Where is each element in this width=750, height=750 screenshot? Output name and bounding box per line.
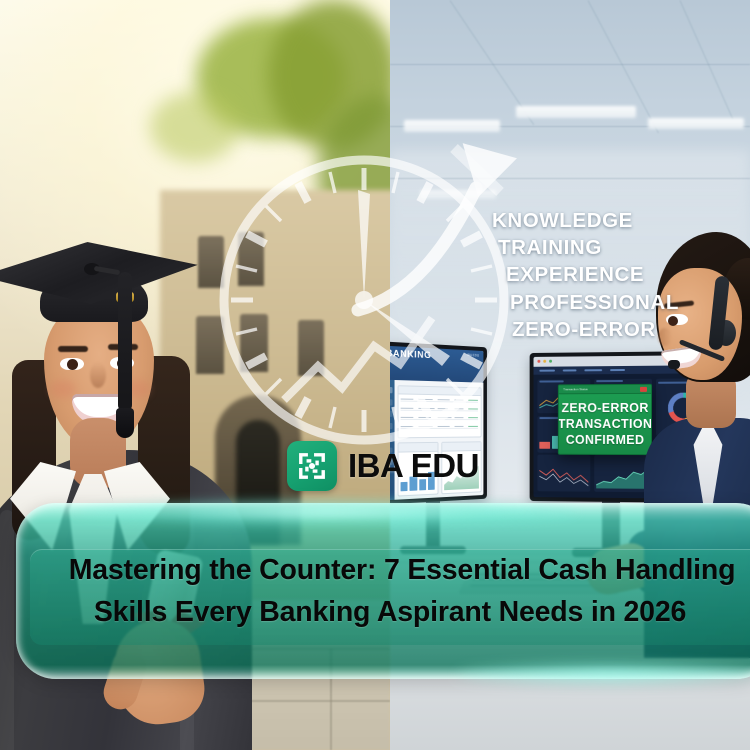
kpi-item-zero-error: ZERO-ERROR bbox=[492, 317, 712, 343]
pupil bbox=[67, 359, 78, 370]
table-row[interactable] bbox=[401, 406, 478, 411]
table-row[interactable] bbox=[401, 425, 478, 430]
table-row[interactable] bbox=[401, 397, 478, 403]
eyebrow-left bbox=[58, 346, 88, 352]
ceiling-light-panel bbox=[648, 118, 744, 129]
sidebar-item[interactable] bbox=[390, 399, 393, 405]
nose bbox=[90, 362, 106, 388]
close-icon[interactable] bbox=[537, 360, 540, 363]
maximize-icon[interactable] bbox=[549, 360, 552, 363]
table-cell bbox=[419, 398, 433, 400]
sidebar-item[interactable] bbox=[390, 423, 393, 429]
table-cell bbox=[437, 417, 451, 418]
chart-panel bbox=[537, 455, 590, 492]
table-cell bbox=[419, 417, 432, 418]
modal-title: Transaction Status bbox=[563, 388, 587, 392]
table-cell bbox=[437, 408, 448, 409]
table-cell bbox=[401, 417, 414, 418]
building-window bbox=[298, 320, 324, 376]
graduation-cap-icon bbox=[0, 236, 199, 309]
eye-left bbox=[60, 358, 84, 370]
kpi-item-knowledge: KNOWLEDGE bbox=[492, 208, 712, 234]
nav-item[interactable] bbox=[584, 369, 602, 371]
table-cell bbox=[401, 426, 414, 427]
line-chart bbox=[539, 465, 588, 489]
ceiling-light-panel bbox=[516, 106, 636, 118]
title-banner bbox=[16, 503, 750, 679]
app-title: H BANKING bbox=[390, 347, 431, 360]
headset-microphone-icon bbox=[668, 360, 680, 369]
table-cell bbox=[401, 407, 414, 408]
app-user-label: IBA EDU bbox=[467, 353, 479, 357]
transactions-table-card bbox=[397, 385, 481, 439]
table-cell bbox=[419, 426, 433, 427]
ceiling-grid-line bbox=[390, 64, 750, 65]
brand-logo: IBA EDU bbox=[287, 441, 479, 491]
status-badge bbox=[468, 426, 478, 427]
promo-graphic: H BANKING IBA EDU bbox=[0, 0, 750, 750]
status-badge bbox=[468, 399, 478, 400]
table-cell bbox=[437, 399, 449, 400]
tassel bbox=[118, 272, 132, 412]
table-cell bbox=[419, 408, 435, 409]
status-badge bbox=[468, 408, 478, 409]
modal-line-3: CONFIRMED bbox=[566, 433, 645, 447]
banner-glow bbox=[457, 663, 750, 685]
nav-item[interactable] bbox=[563, 369, 577, 371]
banner-glow bbox=[77, 499, 579, 525]
kpi-item-experience: EXPERIENCE bbox=[492, 262, 712, 288]
title-backdrop bbox=[30, 549, 750, 645]
panel-title bbox=[596, 380, 623, 382]
minimize-icon[interactable] bbox=[543, 360, 546, 363]
tassel-tip bbox=[116, 408, 134, 438]
sidebar-item[interactable] bbox=[390, 411, 393, 417]
sidebar-item[interactable] bbox=[390, 387, 393, 394]
table-cell bbox=[437, 426, 449, 427]
table-cell bbox=[454, 408, 463, 409]
table-header bbox=[398, 386, 480, 396]
table-cell bbox=[454, 399, 463, 400]
table-cell bbox=[454, 417, 463, 418]
bar bbox=[540, 442, 550, 449]
table-cell bbox=[401, 398, 414, 400]
kpi-word-list: KNOWLEDGE TRAINING EXPERIENCE PROFESSION… bbox=[492, 208, 712, 343]
kpi-item-training: TRAINING bbox=[492, 235, 712, 261]
brand-name: IBA EDU bbox=[348, 447, 479, 485]
modal-line-1: ZERO-ERROR bbox=[562, 401, 649, 415]
panel-title bbox=[539, 381, 563, 383]
gown-fold bbox=[0, 510, 14, 750]
status-badge bbox=[468, 417, 478, 418]
table-cell bbox=[454, 426, 463, 427]
nav-item[interactable] bbox=[610, 369, 625, 371]
kpi-item-professional: PROFESSIONAL bbox=[492, 290, 712, 316]
table-row[interactable] bbox=[401, 416, 478, 421]
nav-item[interactable] bbox=[539, 370, 555, 372]
app-header: H BANKING IBA EDU bbox=[390, 345, 483, 383]
pinwheel-spiral-icon bbox=[287, 441, 337, 491]
